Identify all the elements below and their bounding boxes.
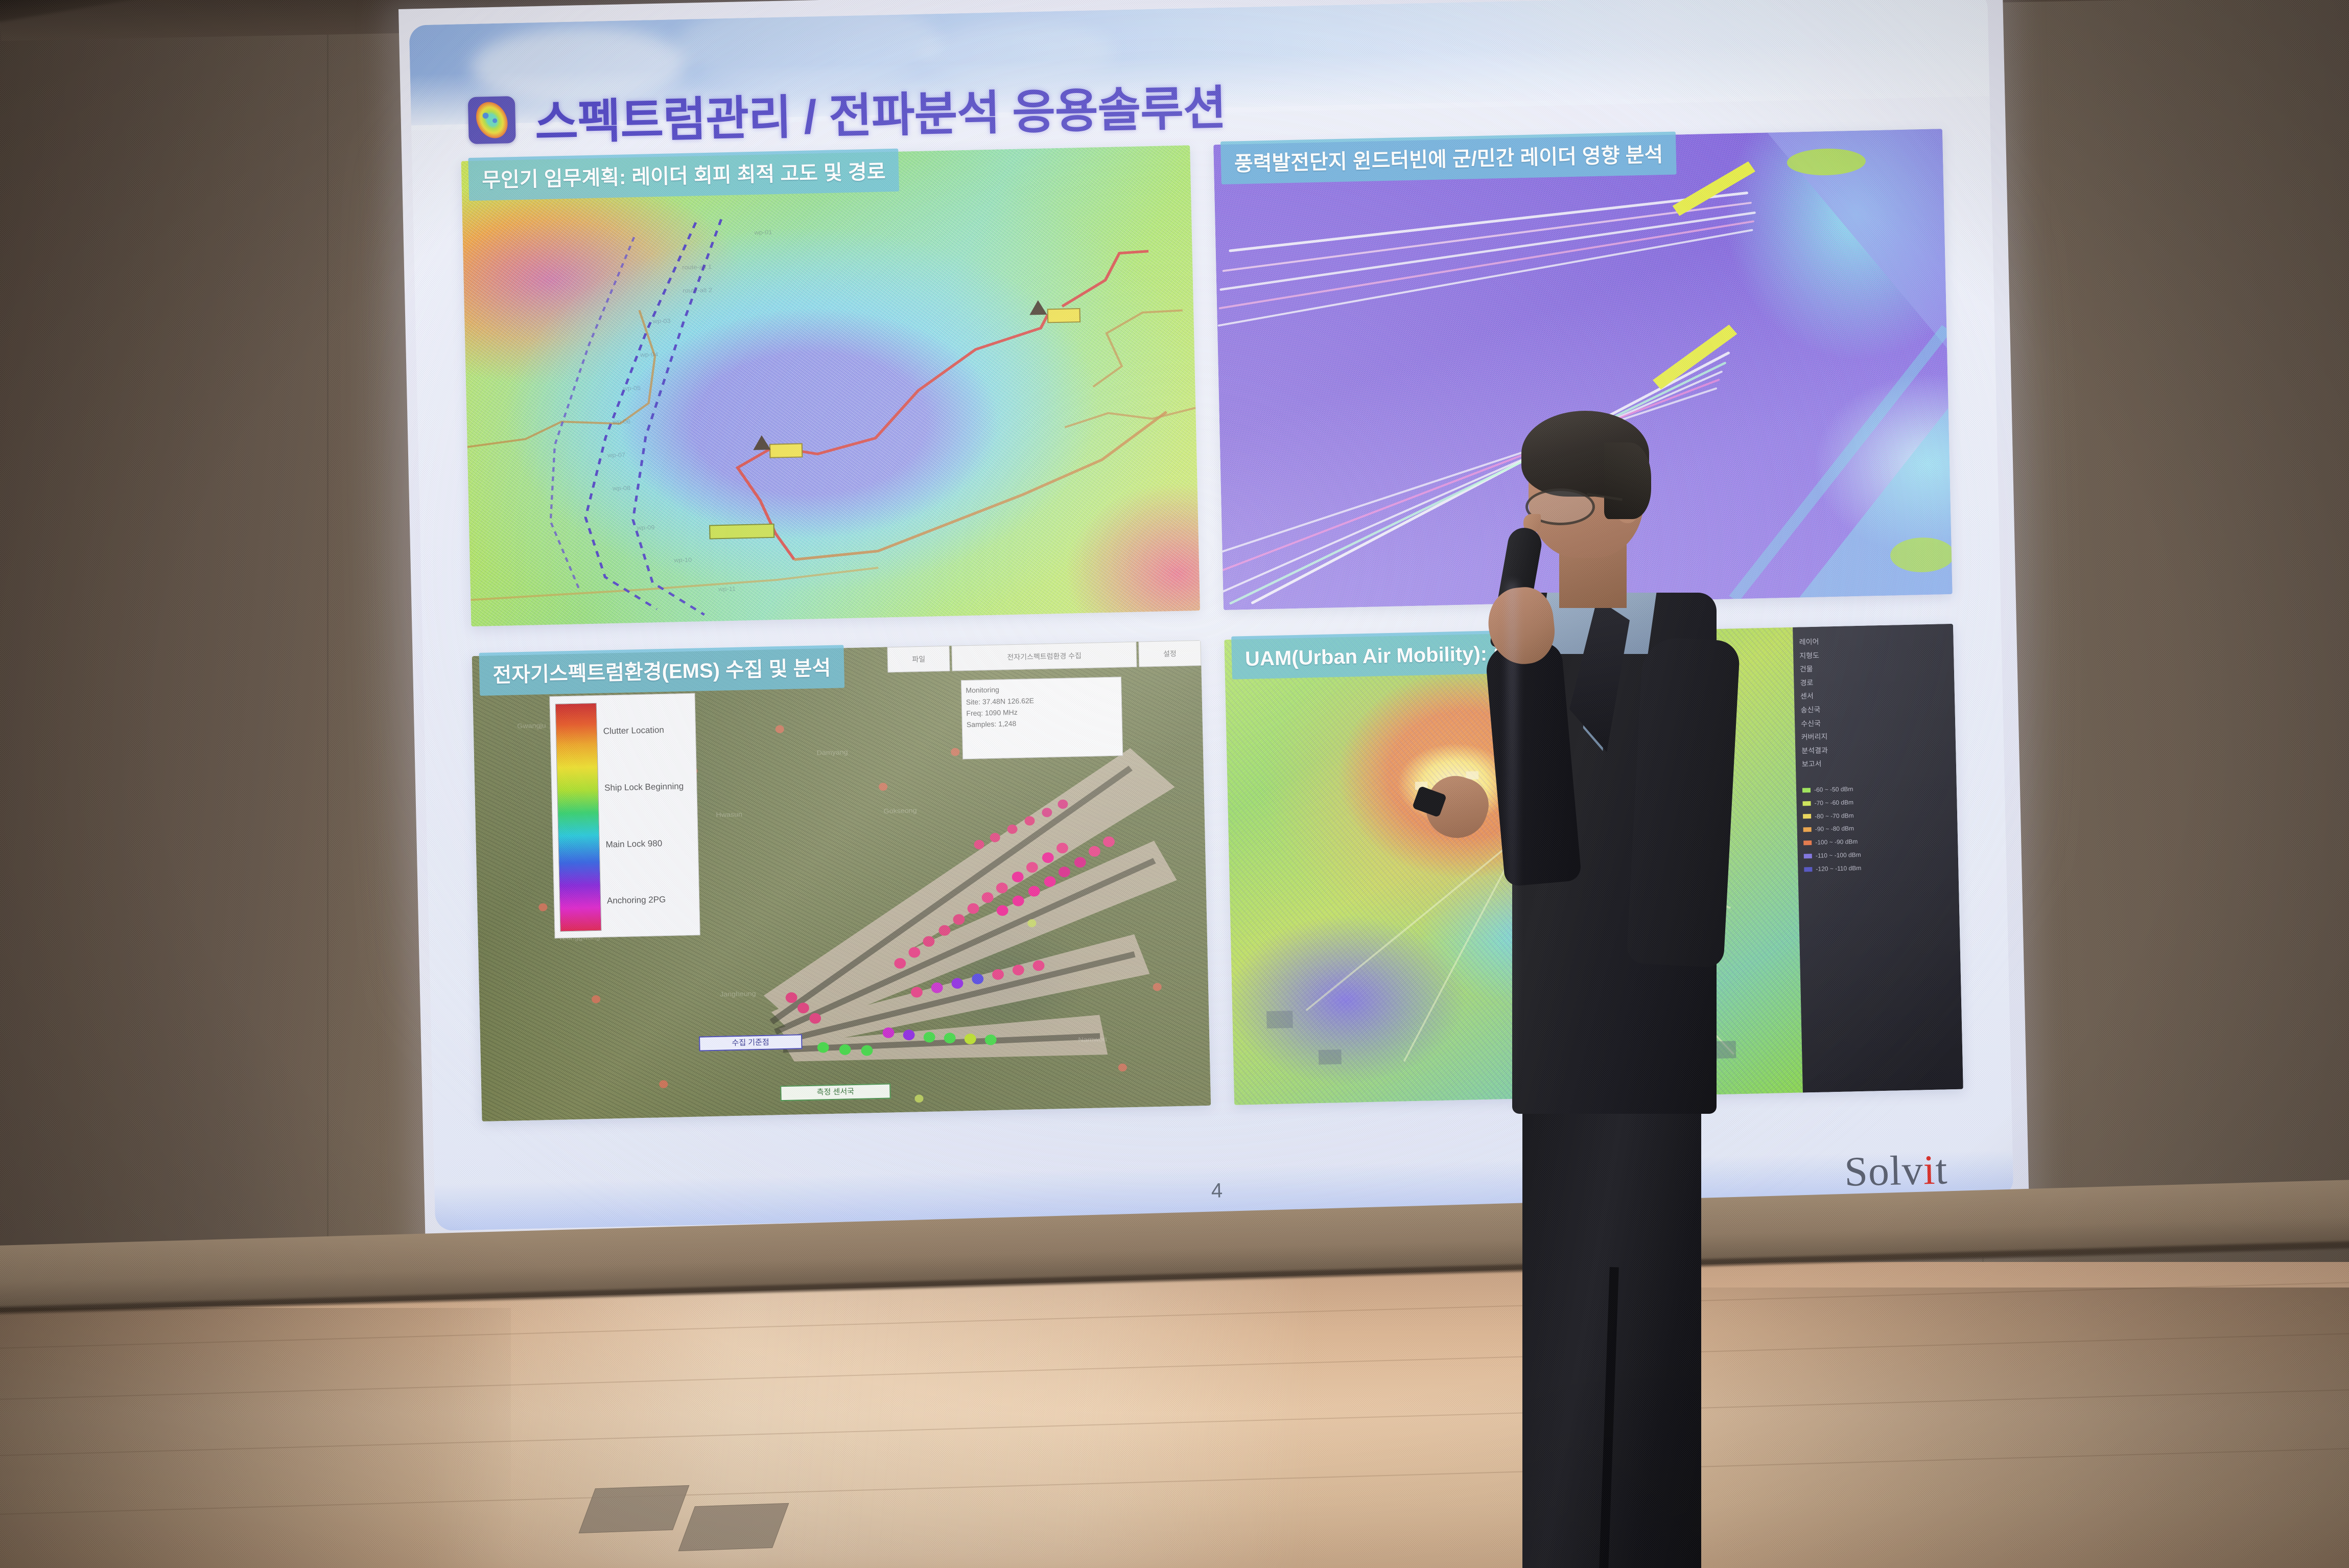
legend-row: -90 ~ -80 dBm — [1803, 821, 1952, 835]
page-title: 스펙트럼관리 / 전파분석 응용솔루션 — [534, 70, 1226, 153]
legend-swatch — [1803, 814, 1811, 818]
spectrum-heatmap-icon — [468, 96, 516, 144]
svg-text:wp-05: wp-05 — [622, 385, 641, 392]
presenter-rim-light — [1507, 582, 1517, 1114]
svg-text:Namwon: Namwon — [1078, 1036, 1107, 1044]
svg-text:Gokseong: Gokseong — [883, 807, 917, 815]
svg-text:wp-04: wp-04 — [640, 351, 658, 358]
floor-access-hatch — [579, 1485, 690, 1533]
legend-row: -70 ~ -60 dBm — [1802, 794, 1951, 809]
wall-left-shading — [0, 0, 439, 1308]
map-badge-reference-point: 수집 기준점 — [699, 1034, 802, 1051]
svg-text:wp-11: wp-11 — [718, 586, 736, 593]
svg-text:wp-09: wp-09 — [636, 524, 654, 531]
svg-text:Jangheung: Jangheung — [720, 990, 756, 998]
brand-logo: Solvit — [1844, 1145, 1948, 1196]
uav-terrain-heatmap-image: route-alt 1route-alt 2 wp-03wp-04 wp-05w… — [461, 145, 1201, 626]
ems-satellite-map-image: GwangjuNaju HwasunDamyang GokseongSuncha… — [472, 640, 1211, 1121]
legend-label: -80 ~ -70 dBm — [1815, 810, 1854, 822]
legend-row: -80 ~ -70 dBm — [1803, 808, 1951, 823]
floor-access-hatch — [678, 1503, 789, 1551]
colorbar-label: Clutter Location — [603, 724, 691, 736]
svg-text:route-alt 1: route-alt 1 — [682, 264, 712, 271]
legend-label: -110 ~ -100 dBm — [1816, 849, 1861, 862]
presenter — [1451, 419, 1768, 1568]
legend-row: -60 ~ -50 dBm — [1802, 781, 1951, 796]
legend-swatch — [1804, 854, 1812, 858]
svg-text:Damyang: Damyang — [816, 748, 848, 757]
colorbar-label: Ship Lock Beginning — [604, 781, 692, 792]
svg-text:wp-03: wp-03 — [652, 317, 670, 324]
presenter-arm-far — [1626, 636, 1740, 968]
svg-text:wp-08: wp-08 — [612, 485, 630, 492]
svg-text:wp-06: wp-06 — [612, 418, 630, 425]
svg-text:wp-07: wp-07 — [607, 452, 625, 459]
svg-text:wp-10: wp-10 — [673, 556, 692, 564]
projection-screen: 스펙트럼관리 / 전파분석 응용솔루션 — [398, 0, 2030, 1276]
toolbar-cell[interactable]: 전자기스펙트럼환경 수집 — [952, 642, 1137, 671]
colorbar-label: Anchoring 2PG — [607, 894, 694, 906]
panel-ems-collection: GwangjuNaju HwasunDamyang GokseongSuncha… — [472, 640, 1211, 1121]
presentation-slide: 스펙트럼관리 / 전파분석 응용솔루션 — [409, 0, 2014, 1231]
floor-left-shadow — [0, 1308, 511, 1568]
svg-text:Gwangju: Gwangju — [517, 722, 546, 730]
floor-light-pool — [434, 1262, 1303, 1568]
legend-swatch — [1802, 788, 1811, 792]
svg-text:wp-01: wp-01 — [754, 229, 772, 236]
uam-signal-legend: -60 ~ -50 dBm -70 ~ -60 dBm -80 ~ -70 dB… — [1802, 781, 1953, 875]
panel-uav-mission-planning: route-alt 1route-alt 2 wp-03wp-04 wp-05w… — [461, 145, 1201, 626]
legend-swatch — [1803, 840, 1812, 845]
presenter-hair-side — [1604, 442, 1651, 519]
colorbar-gradient — [555, 703, 602, 931]
wall-seam — [327, 0, 328, 1308]
uam-layer-sidebar[interactable]: 레이어 지형도 건물 경로 센서 송신국 수신국 커버리지 분석결과 보고서 — [1793, 624, 1963, 1093]
photo-scene: 스펙트럼관리 / 전파분석 응용솔루션 — [0, 0, 2349, 1568]
page-number: 4 — [1211, 1179, 1223, 1202]
legend-swatch — [1803, 801, 1811, 806]
legend-swatch — [1803, 827, 1812, 832]
legend-label: -60 ~ -50 dBm — [1814, 783, 1853, 795]
legend-row: -120 ~ -110 dBm — [1804, 860, 1952, 875]
legend-swatch — [1804, 867, 1812, 872]
map-badge-sensor-station: 측정 센서국 — [780, 1084, 890, 1101]
toolbar-cell[interactable]: 파일 — [887, 646, 950, 673]
colorbar-label: Main Lock 980 — [605, 837, 693, 849]
ems-colorbar-legend: Clutter Location Ship Lock Beginning Mai… — [549, 693, 700, 939]
legend-label: -90 ~ -80 dBm — [1815, 823, 1854, 835]
legend-label: -120 ~ -110 dBm — [1816, 862, 1861, 875]
svg-text:Hwasun: Hwasun — [716, 811, 742, 818]
legend-label: -70 ~ -60 dBm — [1814, 797, 1853, 809]
ems-info-box: Monitoring Site: 37.48N 126.62E Freq: 10… — [961, 677, 1123, 760]
legend-row: -110 ~ -100 dBm — [1804, 847, 1952, 862]
legend-row: -100 ~ -90 dBm — [1803, 834, 1952, 849]
toolbar-cell[interactable]: 설정 — [1138, 640, 1201, 667]
legend-label: -100 ~ -90 dBm — [1815, 836, 1858, 849]
panel-caption: 전자기스펙트럼환경(EMS) 수집 및 분석 — [479, 645, 845, 696]
svg-text:route-alt 2: route-alt 2 — [683, 287, 712, 294]
